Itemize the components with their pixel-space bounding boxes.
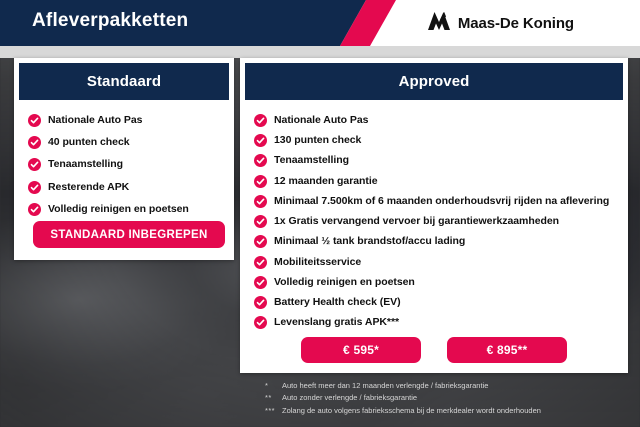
list-item: 130 punten check bbox=[254, 133, 618, 148]
footnote-marker: ** bbox=[265, 393, 282, 402]
package-card-approved-header: Approved bbox=[245, 63, 623, 100]
feature-label: 40 punten check bbox=[48, 135, 130, 150]
footnotes-block: * Auto heeft meer dan 12 maanden verleng… bbox=[265, 380, 635, 417]
price-button-595[interactable]: € 595* bbox=[301, 337, 421, 363]
package-card-approved: Approved Nationale Auto Pas bbox=[240, 58, 628, 373]
price-button-row: € 595* € 895** bbox=[240, 337, 628, 363]
feature-label: Volledig reinigen en poetsen bbox=[274, 275, 415, 290]
check-circle-icon bbox=[254, 316, 267, 329]
brand-name: Maas-De Koning bbox=[458, 15, 574, 32]
feature-label: Tenaamstelling bbox=[48, 157, 123, 172]
package-title-standaard: Standaard bbox=[87, 73, 161, 90]
feature-label: Tenaamstelling bbox=[274, 153, 349, 168]
package-title-approved: Approved bbox=[399, 73, 470, 90]
check-circle-icon bbox=[254, 296, 267, 309]
list-item: Nationale Auto Pas bbox=[28, 113, 224, 128]
feature-label: Levenslang gratis APK*** bbox=[274, 315, 399, 330]
footnote-text: Auto zonder verlengde / fabrieksgarantie bbox=[282, 392, 417, 403]
feature-label: Battery Health check (EV) bbox=[274, 295, 401, 310]
header-underbar bbox=[0, 46, 640, 58]
list-item: Tenaamstelling bbox=[28, 157, 224, 172]
check-circle-icon bbox=[254, 154, 267, 167]
list-item: 40 punten check bbox=[28, 135, 224, 150]
list-item: Minimaal ½ tank brandstof/accu lading bbox=[254, 234, 618, 249]
list-item: Volledig reinigen en poetsen bbox=[28, 202, 224, 217]
check-circle-icon bbox=[254, 235, 267, 248]
footnote-row: *** Zolang de auto volgens fabrieksschem… bbox=[265, 405, 635, 416]
price-button-895[interactable]: € 895** bbox=[447, 337, 567, 363]
list-item: Levenslang gratis APK*** bbox=[254, 315, 618, 330]
footnote-row: ** Auto zonder verlengde / fabrieksgaran… bbox=[265, 392, 635, 403]
check-circle-icon bbox=[254, 134, 267, 147]
footnote-text: Zolang de auto volgens fabrieksschema bi… bbox=[282, 405, 541, 416]
feature-label: 12 maanden garantie bbox=[274, 174, 378, 189]
standaard-inbegrepen-button[interactable]: STANDAARD INBEGREPEN bbox=[33, 221, 225, 248]
page-title: Afleverpakketten bbox=[32, 10, 188, 32]
list-item: Resterende APK bbox=[28, 180, 224, 195]
check-circle-icon bbox=[254, 114, 267, 127]
footnote-marker: * bbox=[265, 381, 282, 390]
list-item: Mobiliteitsservice bbox=[254, 255, 618, 270]
feature-label: 130 punten check bbox=[274, 133, 361, 148]
feature-label: Volledig reinigen en poetsen bbox=[48, 202, 189, 217]
check-circle-icon bbox=[254, 195, 267, 208]
footnote-row: * Auto heeft meer dan 12 maanden verleng… bbox=[265, 380, 635, 391]
check-circle-icon bbox=[28, 158, 41, 171]
check-circle-icon bbox=[28, 136, 41, 149]
package-card-standaard-header: Standaard bbox=[19, 63, 229, 100]
check-circle-icon bbox=[28, 203, 41, 216]
check-circle-icon bbox=[28, 114, 41, 127]
feature-label: Mobiliteitsservice bbox=[274, 255, 361, 270]
feature-list-approved: Nationale Auto Pas 130 punten check bbox=[240, 100, 628, 330]
feature-label: Nationale Auto Pas bbox=[48, 113, 142, 128]
check-circle-icon bbox=[254, 256, 267, 269]
feature-label: Minimaal ½ tank brandstof/accu lading bbox=[274, 234, 465, 249]
maas-de-koning-m-logo-icon bbox=[427, 11, 451, 36]
list-item: Tenaamstelling bbox=[254, 153, 618, 168]
list-item: 12 maanden garantie bbox=[254, 174, 618, 189]
list-item: Battery Health check (EV) bbox=[254, 295, 618, 310]
footnote-marker: *** bbox=[265, 406, 282, 415]
feature-label: Resterende APK bbox=[48, 180, 129, 195]
slide-canvas: Afleverpakketten Maas-De Koning Standaar… bbox=[0, 0, 640, 427]
list-item: Volledig reinigen en poetsen bbox=[254, 275, 618, 290]
check-circle-icon bbox=[28, 181, 41, 194]
check-circle-icon bbox=[254, 276, 267, 289]
list-item: Nationale Auto Pas bbox=[254, 113, 618, 128]
package-card-standaard: Standaard Nationale Auto Pas bbox=[14, 58, 234, 260]
page-header: Afleverpakketten Maas-De Koning bbox=[0, 0, 640, 46]
footnote-text: Auto heeft meer dan 12 maanden verlengde… bbox=[282, 380, 488, 391]
list-item: 1x Gratis vervangend vervoer bij garanti… bbox=[254, 214, 618, 229]
feature-label: Minimaal 7.500km of 6 maanden onderhouds… bbox=[274, 194, 609, 209]
feature-label: 1x Gratis vervangend vervoer bij garanti… bbox=[274, 214, 559, 229]
check-circle-icon bbox=[254, 175, 267, 188]
brand-logo: Maas-De Koning bbox=[427, 11, 574, 36]
list-item: Minimaal 7.500km of 6 maanden onderhouds… bbox=[254, 194, 618, 209]
feature-label: Nationale Auto Pas bbox=[274, 113, 368, 128]
check-circle-icon bbox=[254, 215, 267, 228]
feature-list-standaard: Nationale Auto Pas 40 punten check bbox=[14, 100, 234, 217]
